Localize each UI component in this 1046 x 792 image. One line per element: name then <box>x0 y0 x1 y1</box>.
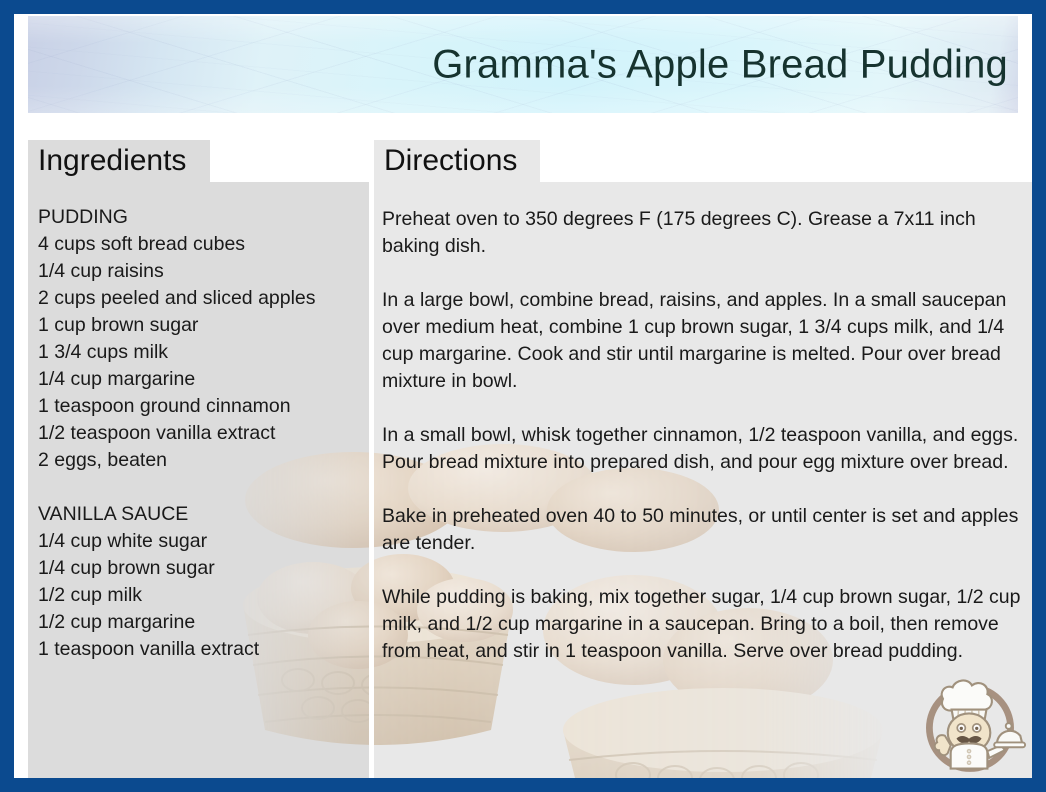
left-white-margin <box>14 14 28 778</box>
ingredient-item: 1 3/4 cups milk <box>38 339 358 366</box>
ingredients-heading-tab: Ingredients <box>28 140 210 182</box>
ingredient-item: 1/2 cup margarine <box>38 609 358 636</box>
ingredients-heading: Ingredients <box>28 146 186 176</box>
directions-heading: Directions <box>374 146 517 176</box>
ingredients-list: PUDDING 4 cups soft bread cubes 1/4 cup … <box>38 204 358 663</box>
direction-paragraph: In a small bowl, whisk together cinnamon… <box>382 422 1030 476</box>
directions-text: Preheat oven to 350 degrees F (175 degre… <box>382 206 1030 665</box>
ingredient-group-vanilla-sauce: VANILLA SAUCE 1/4 cup white sugar 1/4 cu… <box>38 501 358 663</box>
direction-paragraph: While pudding is baking, mix together su… <box>382 584 1030 665</box>
recipe-card: Gramma's Apple Bread Pudding <box>0 0 1046 792</box>
page-title: Gramma's Apple Bread Pudding <box>432 42 1008 87</box>
ingredient-item: 1/4 cup margarine <box>38 366 358 393</box>
ingredient-item: 1/2 cup milk <box>38 582 358 609</box>
directions-tab-notch <box>540 140 1032 182</box>
direction-paragraph: Bake in preheated oven 40 to 50 minutes,… <box>382 503 1030 557</box>
ingredient-item: 1/4 cup raisins <box>38 258 358 285</box>
ingredient-group-pudding: PUDDING 4 cups soft bread cubes 1/4 cup … <box>38 204 358 474</box>
ingredient-group-title: VANILLA SAUCE <box>38 501 358 528</box>
ingredient-item: 1 teaspoon vanilla extract <box>38 636 358 663</box>
ingredients-tab-notch <box>210 140 369 182</box>
ingredient-item: 1 teaspoon ground cinnamon <box>38 393 358 420</box>
ingredient-item: 1/2 teaspoon vanilla extract <box>38 420 358 447</box>
ingredient-item: 2 cups peeled and sliced apples <box>38 285 358 312</box>
ingredient-item: 1/4 cup brown sugar <box>38 555 358 582</box>
ingredient-item: 1 cup brown sugar <box>38 312 358 339</box>
direction-paragraph: Preheat oven to 350 degrees F (175 degre… <box>382 206 1030 260</box>
chef-logo-icon <box>912 668 1028 784</box>
ingredient-item: 1/4 cup white sugar <box>38 528 358 555</box>
directions-heading-tab: Directions <box>374 140 540 182</box>
title-banner: Gramma's Apple Bread Pudding <box>28 16 1018 113</box>
ingredient-item: 2 eggs, beaten <box>38 447 358 474</box>
direction-paragraph: In a large bowl, combine bread, raisins,… <box>382 287 1030 395</box>
card-stage: Gramma's Apple Bread Pudding <box>14 14 1032 778</box>
ingredient-item: 4 cups soft bread cubes <box>38 231 358 258</box>
ingredient-group-title: PUDDING <box>38 204 358 231</box>
